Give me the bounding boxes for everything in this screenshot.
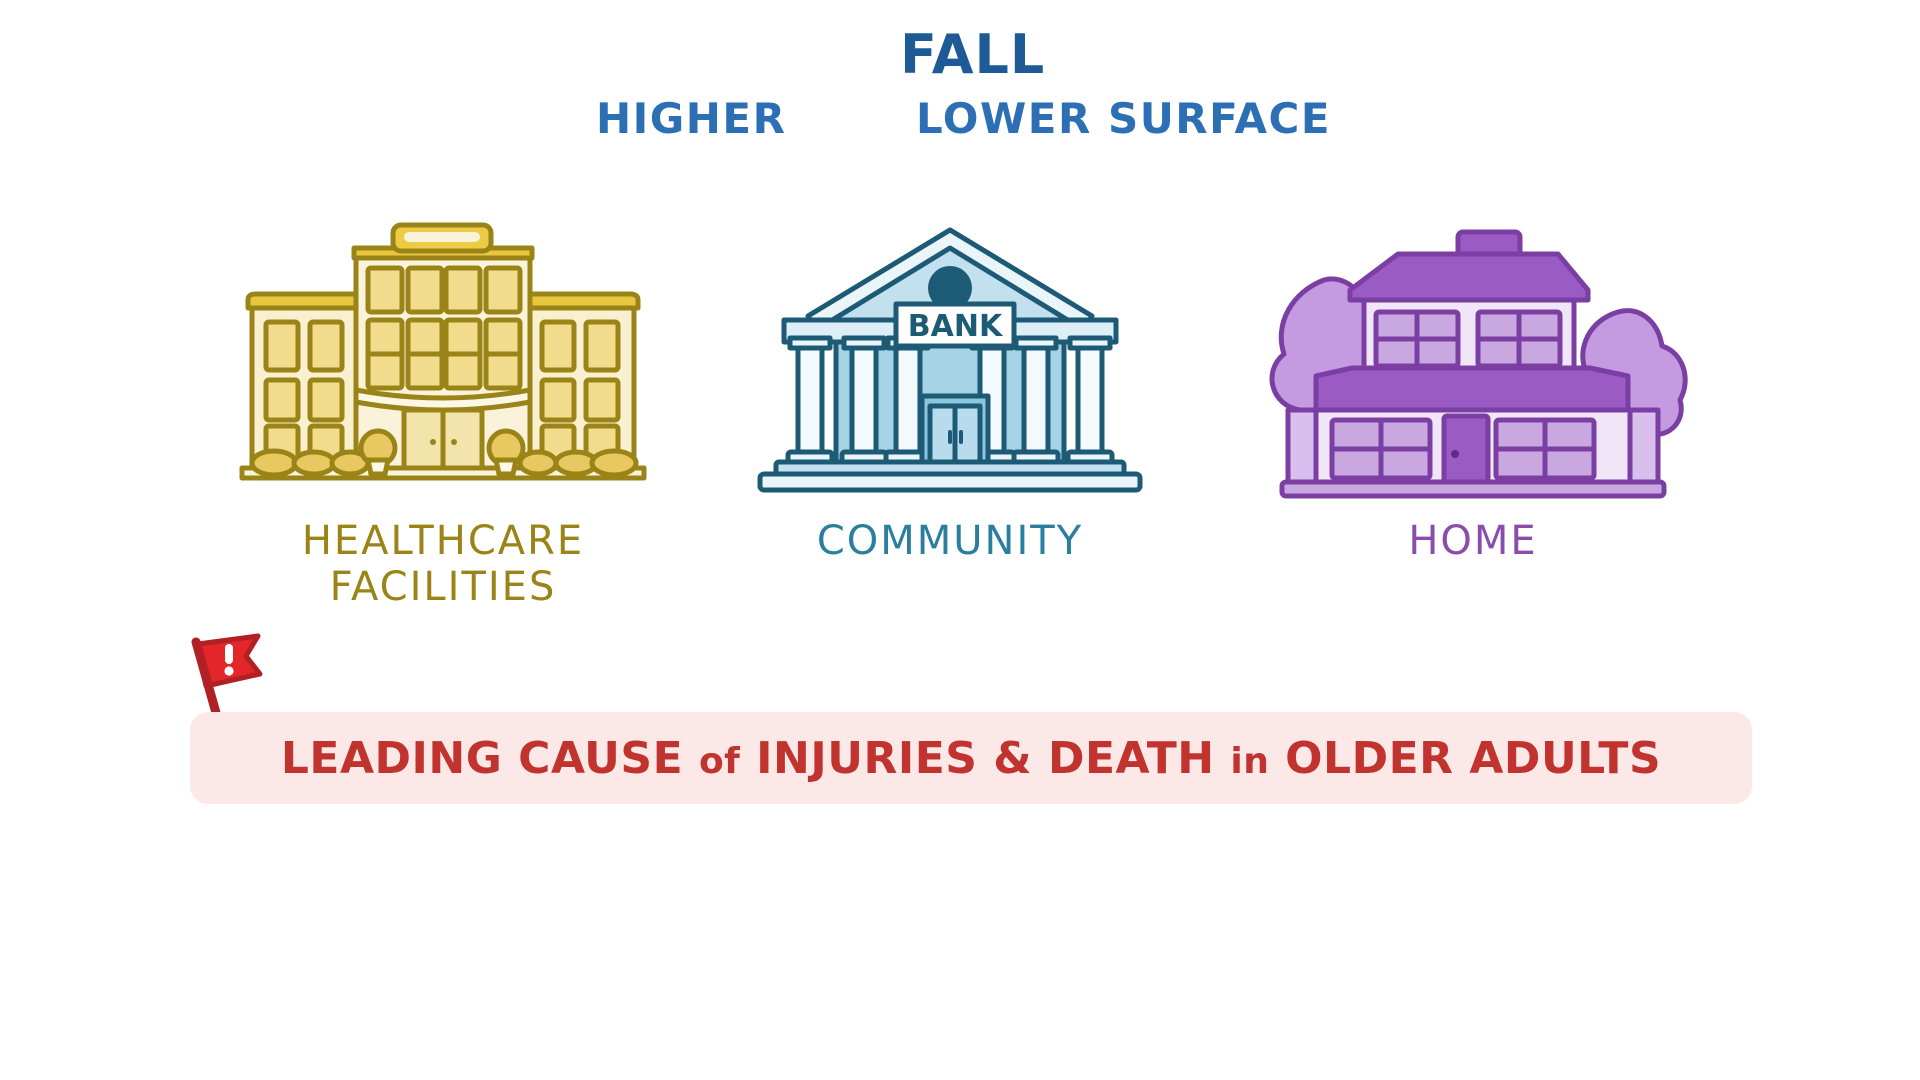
banner-text-of: of — [699, 741, 740, 782]
banner-text-part-1: LEADING CAUSE — [281, 733, 699, 784]
warning-banner-text: LEADING CAUSE of INJURIES & DEATH in OLD… — [281, 733, 1661, 784]
warning-banner: LEADING CAUSE of INJURIES & DEATH in OLD… — [190, 712, 1752, 804]
banner-text-in: in — [1230, 741, 1269, 782]
column-healthcare: HEALTHCARE FACILITIES — [238, 220, 648, 610]
hospital-building-icon — [238, 220, 648, 504]
illustration-canvas: FALL HIGHER LOWER SURFACE — [0, 0, 1920, 1080]
column-label-home: HOME — [1258, 518, 1688, 564]
bank-sign-text: BANK — [908, 309, 1004, 344]
heading-higher: HIGHER — [596, 98, 786, 140]
house-icon — [1258, 220, 1688, 504]
column-label-community: COMMUNITY — [740, 518, 1160, 564]
column-label-healthcare: HEALTHCARE FACILITIES — [238, 518, 648, 610]
heading-lower-surface: LOWER SURFACE — [916, 98, 1331, 140]
column-home: HOME — [1258, 220, 1688, 564]
bank-building-icon: BANK — [740, 220, 1160, 504]
banner-text-part-3: OLDER ADULTS — [1269, 733, 1661, 784]
column-community: BANK COMMUNITY — [740, 220, 1160, 564]
heading-fall: FALL — [900, 28, 1045, 82]
banner-text-part-2: INJURIES & DEATH — [740, 733, 1230, 784]
